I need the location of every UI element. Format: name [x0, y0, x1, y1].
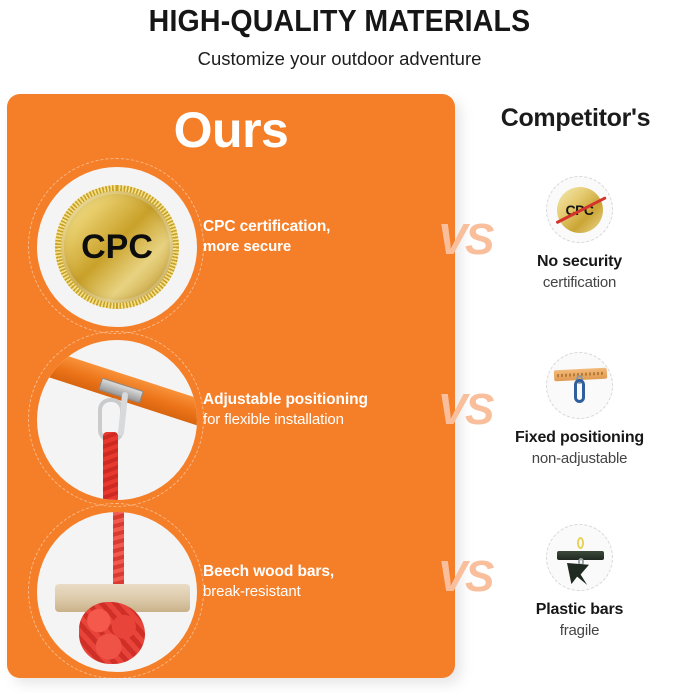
ours-feature-row-cpc: CPC CPC certification, more secure: [7, 167, 455, 327]
competitor-feature-line2: non-adjustable: [480, 449, 679, 468]
vs-badge-1: VS: [430, 215, 500, 265]
cpc-badge-crossed-out-icon: CPC: [546, 176, 613, 243]
ours-feature-line2: break-resistant: [203, 582, 443, 602]
medallion-face: CPC: [61, 191, 173, 303]
red-rope-shape: [103, 432, 118, 500]
strap-carabiner-photo: [37, 340, 197, 500]
medallion-label: CPC: [81, 230, 153, 264]
vs-badge-3: VS: [430, 552, 500, 602]
ours-feature-line1: Beech wood bars,: [203, 562, 443, 582]
ours-feature-row-wood: Beech wood bars, break-resistant: [7, 512, 455, 672]
page-title: HIGH-QUALITY MATERIALS: [27, 0, 652, 38]
cpc-gold-medallion-photo: CPC: [37, 167, 197, 327]
competitor-feature-line1: Fixed positioning: [480, 428, 679, 448]
broken-plastic-bar-icon: [546, 524, 613, 591]
ours-feature-line1: CPC certification,: [203, 217, 443, 237]
ours-feature-text-cpc: CPC certification, more secure: [203, 217, 443, 257]
page-subtitle: Customize your outdoor adventure: [0, 38, 679, 70]
page-header: HIGH-QUALITY MATERIALS Customize your ou…: [0, 0, 679, 70]
ours-feature-line2: more secure: [203, 237, 443, 257]
mini-carabiner-icon: [574, 379, 585, 403]
fixed-strap-carabiner-icon: [546, 352, 613, 419]
cpc-medallion-photo-wrap: CPC: [37, 167, 197, 327]
ours-heading: Ours: [7, 102, 455, 158]
competitor-feature-line2: fragile: [480, 621, 679, 640]
mini-yellow-ring-shape: [577, 537, 584, 549]
competitor-feature-plastic-bars: Plastic bars fragile: [480, 524, 679, 640]
competitor-heading: Competitor's: [472, 103, 679, 133]
ours-feature-text-adjustable: Adjustable positioning for flexible inst…: [203, 390, 443, 430]
ours-feature-line1: Adjustable positioning: [203, 390, 443, 410]
strap-photo-wrap: [37, 340, 197, 500]
competitor-feature-line2: certification: [480, 273, 679, 292]
ours-feature-row-adjustable: Adjustable positioning for flexible inst…: [7, 340, 455, 500]
mini-broken-piece-shape: [567, 563, 589, 585]
wood-photo-wrap: [37, 512, 197, 672]
ours-feature-text-wood: Beech wood bars, break-resistant: [203, 562, 443, 602]
ours-feature-line2: for flexible installation: [203, 410, 443, 430]
competitor-feature-fixed-positioning: Fixed positioning non-adjustable: [480, 352, 679, 468]
competitor-feature-no-security: CPC No security certification: [480, 176, 679, 292]
red-rope-shape: [113, 512, 124, 590]
medallion-serrated-edge: CPC: [55, 185, 179, 309]
competitor-feature-line1: No security: [480, 252, 679, 272]
monkey-fist-knot-shape: [79, 602, 145, 664]
wood-bar-rope-knot-photo: [37, 512, 197, 672]
ours-panel: Ours CPC CPC certification, more secure: [7, 94, 455, 678]
competitor-feature-line1: Plastic bars: [480, 600, 679, 620]
vs-badge-2: VS: [430, 385, 500, 435]
